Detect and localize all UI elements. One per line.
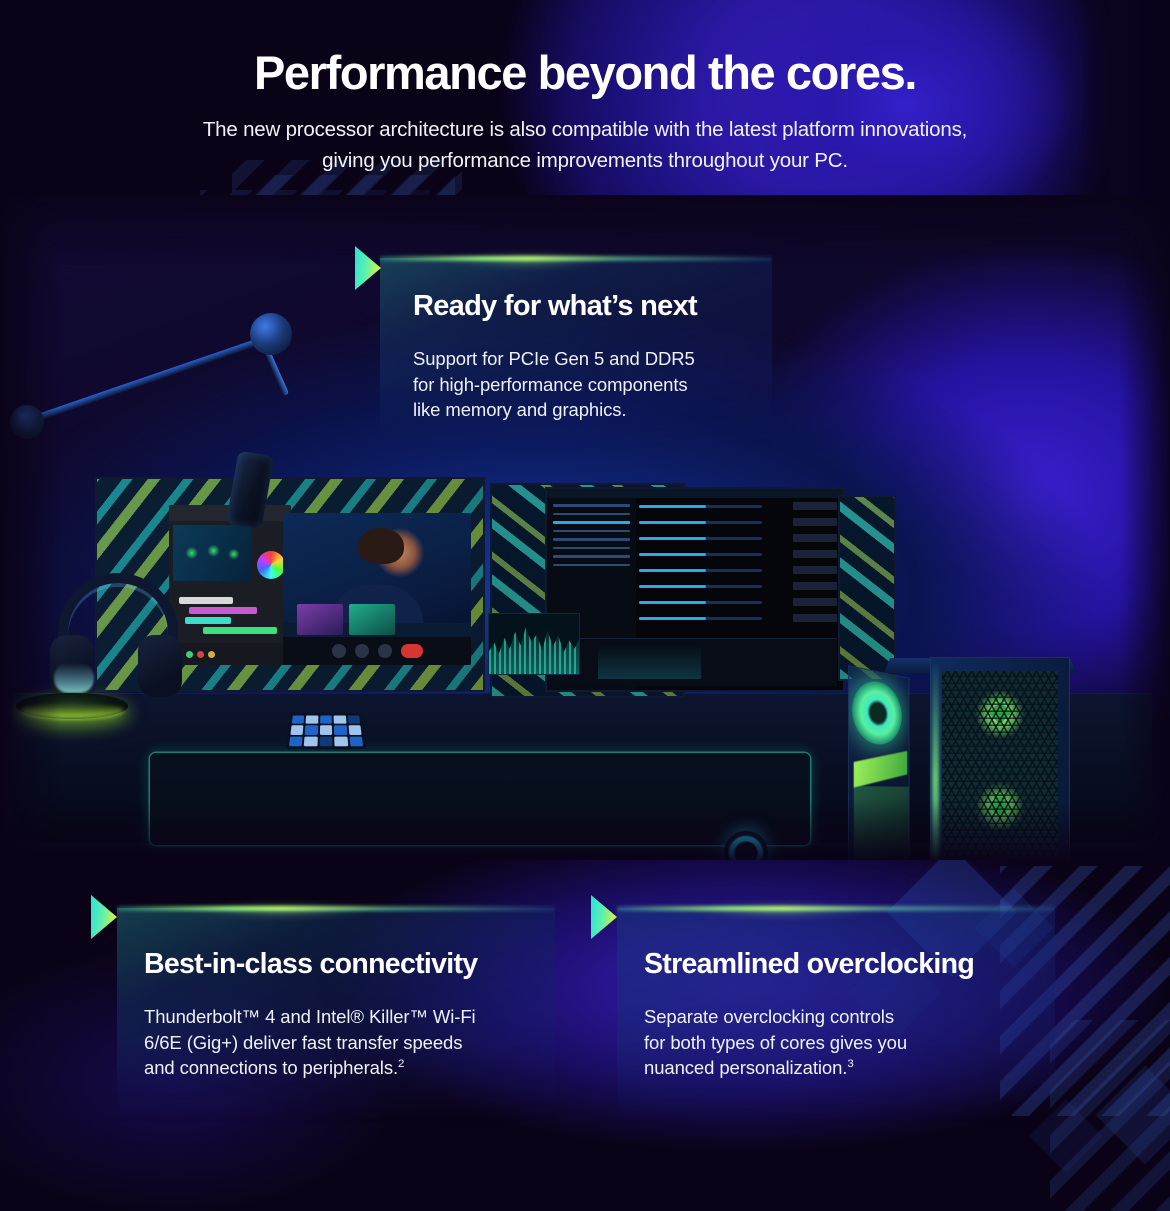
callout-card-footnote: 3: [847, 1058, 853, 1070]
callout-card-body-line2: 6/6E (Gig+) deliver fast transfer speeds: [144, 1032, 462, 1053]
photo-stream-deck-key: [290, 725, 303, 734]
photo-tuning-slider: [639, 596, 837, 607]
photo-video-call-window: [283, 513, 471, 665]
photo-sidebar-entry: [553, 555, 630, 558]
photo-stream-deck-key: [306, 715, 318, 723]
photo-tuning-utility-monitor-pane: [553, 638, 837, 686]
photo-tuning-slider: [639, 516, 837, 527]
photo-tuning-value-chip: [793, 582, 837, 590]
photo-sidebar-entry: [553, 547, 630, 550]
photo-mic-boom-joint: [250, 313, 292, 355]
photo-editing-app-window: [169, 505, 291, 665]
photo-pc-motherboard: [854, 786, 909, 860]
photo-video-call-participant: [349, 604, 395, 635]
callout-card-ready-for-whats-next: Ready for what’s next Support for PCIe G…: [380, 258, 772, 448]
photo-headset-rgb-glow: [54, 663, 94, 693]
callout-card-body-line2: for high-performance components: [413, 374, 688, 395]
callout-card-best-in-class-connectivity: Best-in-class connectivity Thunderbolt™ …: [117, 908, 555, 1123]
callout-card-top-bloom: [661, 899, 902, 915]
callout-card-title: Ready for what’s next: [413, 288, 772, 324]
callout-card-body-line3: and connections to peripherals.: [144, 1057, 398, 1078]
callout-card-body: Thunderbolt™ 4 and Intel® Killer™ Wi-Fi …: [144, 1004, 555, 1081]
photo-pc-graphics-card: [854, 751, 908, 788]
photo-video-call-participant: [297, 604, 343, 635]
page-subtitle-line1: The new processor architecture is also c…: [203, 118, 967, 141]
photo-stream-deck-key: [348, 725, 361, 734]
callout-card-streamlined-overclocking: Streamlined overclocking Separate overcl…: [617, 908, 1055, 1123]
callout-card-top-bloom: [161, 899, 402, 915]
photo-video-call-controls: [283, 637, 471, 665]
photo-tuning-utility-titlebar: [547, 489, 843, 498]
callout-card-body-line3: like memory and graphics.: [413, 399, 626, 420]
photo-pc-tower-glass-side-panel: [848, 665, 909, 860]
callout-card-body-line3: nuanced personalization.: [644, 1057, 847, 1078]
photo-sidebar-entry: [553, 513, 630, 516]
photo-pc-mesh-grid: [942, 671, 1058, 860]
photo-mic-boom-base-joint: [10, 405, 44, 439]
photo-editing-app-statusbar: [169, 643, 291, 665]
photo-tuning-slider: [639, 612, 837, 623]
photo-stream-deck-key: [289, 736, 303, 746]
page-title: Performance beyond the cores.: [0, 44, 1170, 102]
callout-card-top-bloom: [419, 249, 635, 265]
photo-status-dot: [197, 651, 204, 658]
page-subtitle: The new processor architecture is also c…: [125, 114, 1045, 176]
photo-camera-icon: [355, 644, 369, 658]
photo-tuning-value-chip: [793, 566, 837, 574]
callout-card-content: Streamlined overclocking Separate overcl…: [617, 946, 1055, 1081]
photo-stream-deck-key: [320, 715, 332, 723]
photo-tuning-slider: [639, 500, 837, 511]
photo-tuning-value-chip: [793, 518, 837, 526]
photo-stream-deck-key: [305, 725, 318, 734]
photo-tuning-utility-sliders: [639, 500, 837, 634]
callout-card-body: Support for PCIe Gen 5 and DDR5 for high…: [413, 346, 772, 423]
photo-editing-app-preview: [173, 525, 251, 581]
callout-card-content: Best-in-class connectivity Thunderbolt™ …: [117, 946, 555, 1081]
photo-status-dot: [208, 651, 215, 658]
photo-performance-graph-waveform: [489, 614, 579, 674]
photo-timeline-track: [179, 597, 233, 604]
photo-stream-deck-key: [292, 715, 305, 723]
photo-stream-deck-key: [320, 725, 333, 734]
page-header: Performance beyond the cores. The new pr…: [0, 0, 1170, 176]
callout-card-body-line2: for both types of cores gives you: [644, 1032, 907, 1053]
callout-card-body-line1: Separate overclocking controls: [644, 1006, 894, 1027]
photo-mute-icon: [332, 644, 346, 658]
photo-stream-deck-key: [334, 725, 347, 734]
photo-monitor-far-right-wallpaper: [840, 497, 894, 679]
callout-card-footnote: 2: [398, 1058, 404, 1070]
photo-pc-tower-rgb-edge: [932, 665, 939, 860]
photo-stream-deck-key: [304, 736, 317, 746]
callout-card-body-line1: Support for PCIe Gen 5 and DDR5: [413, 348, 695, 369]
promo-page: Performance beyond the cores. The new pr…: [0, 0, 1170, 1211]
photo-tuning-slider: [639, 564, 837, 575]
photo-pc-cpu-cooler-fan: [852, 677, 902, 747]
callout-card-content: Ready for what’s next Support for PCIe G…: [380, 288, 772, 423]
photo-tuning-slider: [639, 548, 837, 559]
photo-headset-earcup-right: [138, 635, 182, 697]
photo-stream-deck-key: [349, 736, 363, 746]
photo-tuning-value-chip: [793, 534, 837, 542]
photo-speaker-hair: [358, 528, 404, 564]
photo-timeline-track: [203, 627, 277, 634]
photo-sidebar-entry: [553, 538, 630, 541]
photo-stream-deck-key: [347, 715, 360, 723]
callout-card-title: Streamlined overclocking: [644, 946, 1055, 982]
photo-pc-tower-front-mesh: [942, 671, 1058, 860]
photo-stream-deck-key: [319, 736, 332, 746]
photo-stream-deck-key: [334, 715, 346, 723]
photo-rgb-deskmat: [150, 753, 810, 845]
photo-tuning-utility-graph: [598, 644, 700, 679]
callout-card-body-line1: Thunderbolt™ 4 and Intel® Killer™ Wi-Fi: [144, 1006, 476, 1027]
photo-status-dot: [186, 651, 193, 658]
photo-end-call-icon: [401, 644, 423, 658]
photo-tuning-value-chip: [793, 550, 837, 558]
page-subtitle-line2: giving you performance improvements thro…: [322, 149, 848, 172]
callout-card-title: Best-in-class connectivity: [144, 946, 555, 982]
photo-tuning-slider: [639, 580, 837, 591]
photo-sidebar-entry-active: [553, 521, 630, 524]
photo-tuning-slider: [639, 532, 837, 543]
photo-sidebar-entry: [553, 504, 630, 507]
photo-timeline-track: [189, 607, 257, 614]
photo-monitor-right: [545, 487, 845, 692]
photo-tuning-utility: [547, 489, 843, 690]
photo-color-wheel: [257, 551, 285, 579]
photo-tuning-value-chip: [793, 614, 837, 622]
photo-headset: [52, 573, 184, 699]
photo-sidebar-entry: [553, 530, 630, 533]
photo-stream-deck: [285, 713, 366, 749]
photo-timeline-track: [185, 617, 231, 624]
photo-sidebar-entry: [553, 564, 630, 567]
photo-share-icon: [378, 644, 392, 658]
photo-tuning-value-chip: [793, 502, 837, 510]
photo-headset-stand-rgb-ring: [20, 703, 124, 719]
photo-performance-graph-panel: [488, 613, 580, 675]
photo-stream-deck-key: [334, 736, 347, 746]
photo-monitor-far-right: [838, 495, 896, 681]
photo-tuning-value-chip: [793, 598, 837, 606]
callout-card-body: Separate overclocking controls for both …: [644, 1004, 1055, 1081]
